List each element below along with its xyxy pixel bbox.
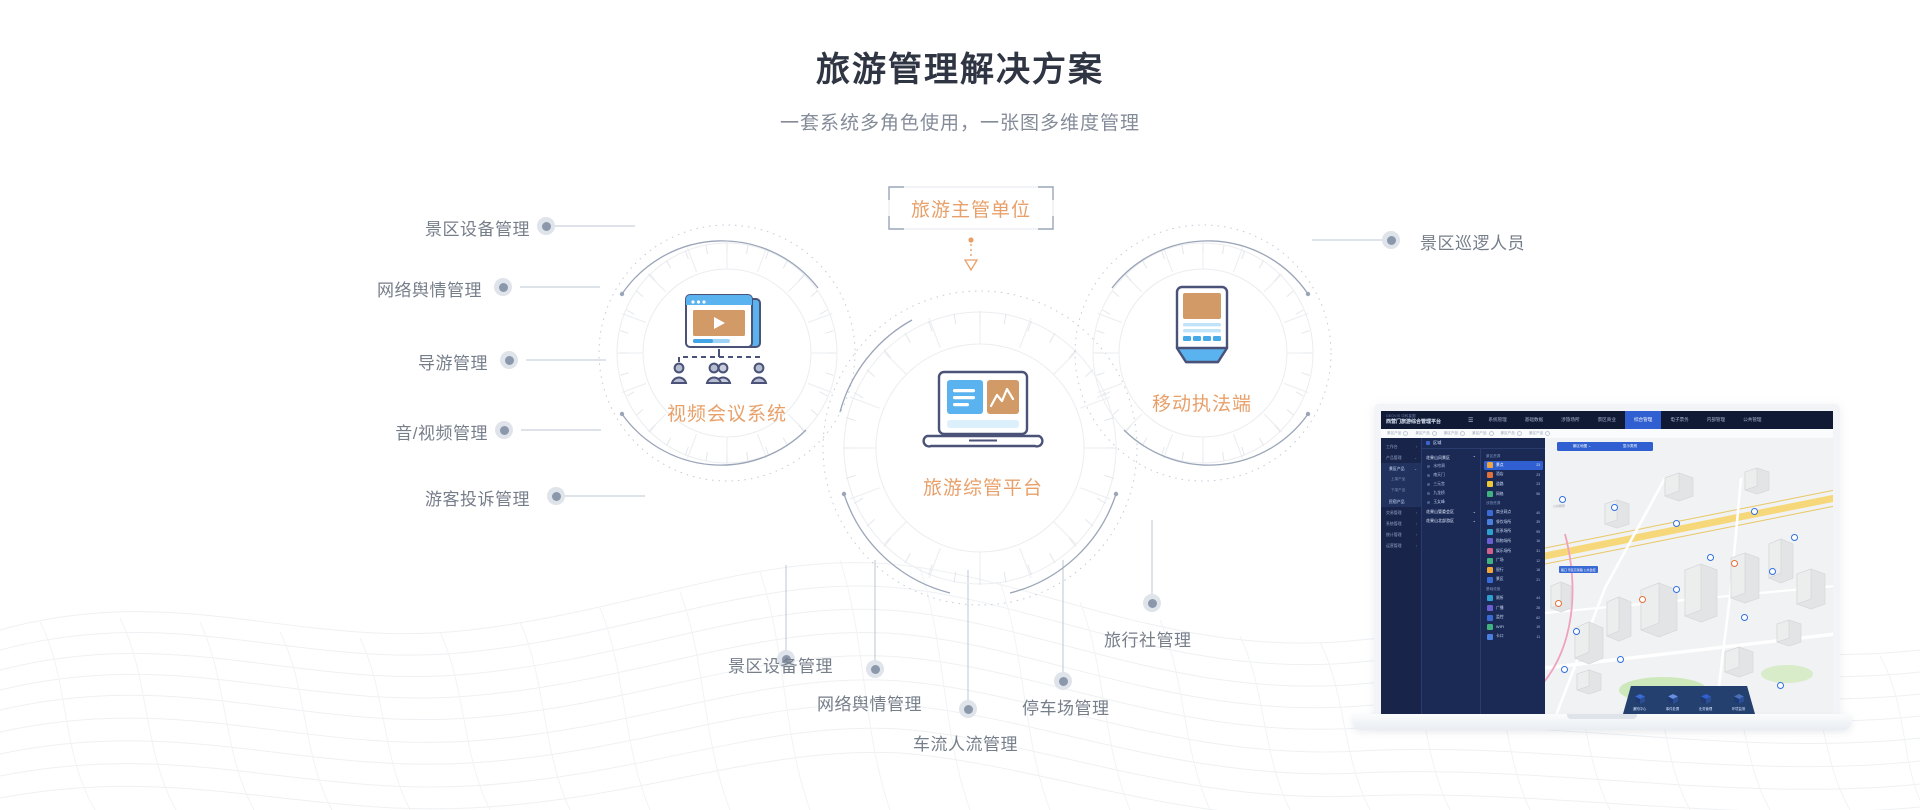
map-poi-alt[interactable] bbox=[1731, 560, 1738, 567]
chip-circle-icon bbox=[1489, 431, 1494, 436]
layer-label: 监控 bbox=[1496, 615, 1504, 620]
sidebar-item[interactable]: 统计管理› bbox=[1381, 529, 1421, 540]
layer-label: 景区 bbox=[1496, 577, 1504, 582]
node-caption-tourism-platform: 旅游综管平台 bbox=[868, 473, 1098, 500]
region-tree-label: 花果山风景区 bbox=[1426, 455, 1450, 461]
layer-label: 商业网点 bbox=[1496, 510, 1511, 515]
layer-count: 16 bbox=[1536, 539, 1543, 543]
region-tree-group[interactable]: 花果山风景区⌃ bbox=[1422, 453, 1480, 462]
layer-label: 购物场所 bbox=[1496, 539, 1511, 544]
layer-type-icon bbox=[1487, 462, 1493, 468]
dashboard-top-menu: 系统管理基础数据涉旅场所景区商业综合管理电子票务内部管理公共管理 bbox=[1479, 411, 1833, 429]
layer-group-title: 涉旅资源 bbox=[1481, 499, 1546, 507]
region-tree-item[interactable]: 水帘洞 bbox=[1422, 462, 1480, 471]
layer-type-icon bbox=[1487, 605, 1493, 611]
bullet-icon bbox=[1427, 474, 1430, 477]
layer-item[interactable]: 景点23 bbox=[1484, 461, 1543, 470]
layer-item[interactable]: 道路23 bbox=[1484, 480, 1543, 489]
authority-badge: 旅游主管单位 bbox=[888, 186, 1054, 230]
sidebar-item-label: 系统管理 bbox=[1386, 521, 1402, 527]
dot-bottom-2 bbox=[866, 660, 884, 678]
layer-count: 23 bbox=[1536, 482, 1543, 486]
chip-circle-icon bbox=[1545, 431, 1550, 436]
map-poi[interactable] bbox=[1611, 504, 1618, 511]
dashboard-region-panel: 区域 花果山风景区⌃水帘洞南天门三元宫九龙桥玉女峰花果山管委会区⌄花果山北部游区… bbox=[1421, 438, 1546, 717]
label-left-1: 景区设备管理 bbox=[400, 215, 530, 240]
chip-circle-icon bbox=[1432, 431, 1437, 436]
region-tree-group[interactable]: 花果山北部游区⌄ bbox=[1422, 516, 1480, 525]
dashboard-topbar: GEOVIS 中科星图 西营门旅游综合管理平台 ☰ 系统管理基础数据涉旅场所景区… bbox=[1381, 411, 1833, 429]
dot-bottom-5 bbox=[1143, 594, 1161, 612]
region-tree-item[interactable]: 九龙桥 bbox=[1422, 489, 1480, 498]
layer-label: 医系场所 bbox=[1496, 529, 1511, 534]
map-poi[interactable] bbox=[1561, 666, 1568, 673]
bullet-icon bbox=[1427, 465, 1430, 468]
node-mobile-enforcement[interactable]: 移动执法端 bbox=[1108, 282, 1296, 416]
chip-circle-icon bbox=[1517, 431, 1522, 436]
sidebar-item-label: 下架产品 bbox=[1391, 488, 1405, 493]
map-poi-alt[interactable] bbox=[1639, 596, 1646, 603]
layer-type-icon bbox=[1487, 548, 1493, 554]
region-tree-label: 花果山北部游区 bbox=[1426, 518, 1454, 524]
sidebar-item[interactable]: 民宿产品 bbox=[1381, 496, 1421, 507]
menu-toggle-icon[interactable]: ☰ bbox=[1462, 417, 1479, 424]
laptop-notch bbox=[1567, 714, 1637, 719]
dock-item-label: 业务管理 bbox=[1693, 706, 1719, 711]
layer-type-icon bbox=[1487, 558, 1493, 564]
bullet-icon bbox=[1427, 492, 1430, 495]
laptop-dashboard-icon bbox=[917, 368, 1049, 462]
dock-item-label: 事件处置 bbox=[1660, 706, 1686, 711]
page-title: 旅游管理解决方案 bbox=[0, 42, 1920, 91]
region-tree-label: 三元宫 bbox=[1433, 482, 1444, 487]
bullet-icon bbox=[1427, 501, 1430, 504]
label-right-1: 景区巡逻人员 bbox=[1420, 229, 1525, 254]
map-poi[interactable] bbox=[1777, 682, 1784, 689]
region-tree-item[interactable]: 三元宫 bbox=[1422, 480, 1480, 489]
layer-item[interactable]: 餐饮场所39 bbox=[1484, 518, 1543, 527]
layer-label: 厕所 bbox=[1496, 596, 1504, 601]
laptop-mockup: GEOVIS 中科星图 西营门旅游综合管理平台 ☰ 系统管理基础数据涉旅场所景区… bbox=[1352, 404, 1852, 774]
map-poi-alt[interactable] bbox=[1555, 600, 1562, 607]
sidebar-item[interactable]: 交易管理› bbox=[1381, 507, 1421, 518]
map-poi[interactable] bbox=[1751, 508, 1758, 515]
dock-item[interactable]: 事件处置 bbox=[1660, 693, 1686, 712]
map-poi[interactable] bbox=[1707, 554, 1714, 561]
map-poi[interactable] bbox=[1741, 614, 1748, 621]
layer-label: 餐饮场所 bbox=[1496, 520, 1511, 525]
chevron-icon: ⌄ bbox=[1414, 456, 1421, 460]
sidebar-item-label: 工作台 bbox=[1386, 444, 1398, 450]
layer-count: 28 bbox=[1536, 606, 1543, 610]
layer-type-icon bbox=[1487, 634, 1493, 640]
dashboard-sidebar: 工作台›产品管理⌄景区产品⌄上架产品下架产品民宿产品交易管理›系统管理›统计管理… bbox=[1381, 438, 1421, 717]
dashboard-filter-chip[interactable]: 景区产品 bbox=[1444, 431, 1465, 436]
layer-count: 23 bbox=[1536, 473, 1543, 477]
layer-type-icon bbox=[1487, 624, 1493, 630]
layer-type-icon bbox=[1487, 538, 1493, 544]
layer-item[interactable]: 医系场所95 bbox=[1484, 528, 1543, 537]
sidebar-item[interactable]: 产品管理⌄ bbox=[1381, 452, 1421, 463]
layer-type-icon bbox=[1487, 577, 1493, 583]
dock-item[interactable]: 业务管理 bbox=[1693, 693, 1719, 712]
chip-label: 景区产品 bbox=[1529, 431, 1543, 436]
layer-item[interactable]: WIFI19 bbox=[1484, 623, 1543, 632]
cube-blue-icon bbox=[1634, 693, 1646, 705]
node-caption-mobile-enforcement: 移动执法端 bbox=[1108, 389, 1296, 416]
map-callout-text: 路口 景区高架路 公共监控 bbox=[1561, 568, 1596, 572]
chevron-icon: ⌃ bbox=[1473, 455, 1480, 460]
dashboard-app: GEOVIS 中科星图 西营门旅游综合管理平台 ☰ 系统管理基础数据涉旅场所景区… bbox=[1381, 411, 1833, 717]
map-dock: 通知中心事件处置业务管理环境监测 bbox=[1623, 686, 1755, 714]
layer-count: 12 bbox=[1536, 559, 1543, 563]
dock-item[interactable]: 环境监测 bbox=[1726, 693, 1752, 712]
layer-type-icon bbox=[1487, 472, 1493, 478]
label-bottom-1: 景区设备管理 bbox=[728, 652, 833, 677]
layer-count: 21 bbox=[1536, 578, 1543, 582]
chip-label: 景区产品 bbox=[1444, 431, 1458, 436]
map-canvas bbox=[1545, 438, 1833, 717]
region-tree: 花果山风景区⌃水帘洞南天门三元宫九龙桥玉女峰花果山管委会区⌄花果山北部游区⌄ bbox=[1422, 449, 1481, 717]
layer-count: 11 bbox=[1536, 635, 1543, 639]
mobile-device-icon bbox=[1166, 282, 1238, 378]
layer-group-title: 景区资源 bbox=[1481, 452, 1546, 460]
dock-item-label: 环境监测 bbox=[1726, 706, 1752, 711]
layer-item[interactable]: 银行18 bbox=[1484, 566, 1543, 575]
layer-item[interactable]: 景区21 bbox=[1484, 576, 1543, 585]
layer-item[interactable]: 购物场所16 bbox=[1484, 537, 1543, 546]
chip-label: 景区产品 bbox=[1501, 431, 1515, 436]
map-callout: 路口 景区高架路 公共监控 bbox=[1559, 566, 1598, 573]
label-left-4: 音/视频管理 bbox=[360, 419, 488, 444]
map-toolbar[interactable]: 景区地图 ⌄ 显示类别 bbox=[1557, 442, 1653, 451]
dashboard-filter-chip[interactable]: 景区产品 bbox=[1529, 431, 1550, 436]
dashboard-brand: GEOVIS 中科星图 西营门旅游综合管理平台 bbox=[1381, 414, 1462, 427]
node-caption-video-conference: 视频会议系统 bbox=[627, 399, 827, 426]
label-left-2: 网络舆情管理 bbox=[352, 276, 482, 301]
layer-label: 道路 bbox=[1496, 482, 1504, 487]
map-poi[interactable] bbox=[1769, 568, 1776, 575]
chip-label: 景区产品 bbox=[1415, 431, 1429, 436]
map-category-button[interactable]: 显示类别 bbox=[1623, 444, 1637, 449]
region-tree-item[interactable]: 玉女峰 bbox=[1422, 498, 1480, 507]
layer-label: 景点 bbox=[1496, 463, 1504, 468]
dashboard-menu-item[interactable]: 景区商业 bbox=[1589, 411, 1625, 429]
dashboard-menu-item[interactable]: 内部管理 bbox=[1698, 411, 1734, 429]
region-tree-label: 花果山管委会区 bbox=[1426, 509, 1454, 515]
sidebar-item-label: 产品管理 bbox=[1386, 455, 1402, 461]
sidebar-item-label: 景区产品 bbox=[1389, 466, 1405, 472]
layer-type-icon bbox=[1487, 567, 1493, 573]
chip-label: 景区产品 bbox=[1387, 431, 1401, 436]
sidebar-item[interactable]: 景区产品⌄ bbox=[1381, 463, 1421, 474]
node-tourism-platform[interactable]: 旅游综管平台 bbox=[868, 368, 1098, 500]
label-bottom-3: 车流人流管理 bbox=[913, 730, 1018, 755]
layer-count: 62 bbox=[1536, 616, 1543, 620]
sidebar-item[interactable]: 下架产品 bbox=[1381, 485, 1421, 496]
label-bottom-4: 停车场管理 bbox=[1022, 694, 1110, 719]
region-tree-label: 九龙桥 bbox=[1433, 491, 1444, 496]
layer-item[interactable]: 卡口11 bbox=[1484, 633, 1543, 642]
sidebar-item-label: 上架产品 bbox=[1391, 477, 1405, 482]
layer-item[interactable]: 厕所44 bbox=[1484, 594, 1543, 603]
layer-list: 景区资源景点23酒店23道路23网格56涉旅资源商业网点40餐饮场所39医系场所… bbox=[1481, 449, 1546, 717]
dock-item-label: 通知中心 bbox=[1627, 706, 1653, 711]
book-icon bbox=[1700, 693, 1712, 705]
layer-type-icon bbox=[1487, 519, 1493, 525]
sidebar-item[interactable]: 系统管理› bbox=[1381, 518, 1421, 529]
label-bottom-5: 旅行社管理 bbox=[1104, 626, 1192, 651]
video-window-icon bbox=[665, 292, 789, 388]
dot-right-1 bbox=[1382, 231, 1400, 249]
region-tree-label: 水帘洞 bbox=[1433, 464, 1444, 469]
dashboard-filter-chip[interactable]: 景区产品 bbox=[1472, 431, 1493, 436]
region-panel-header: 区域 bbox=[1422, 438, 1546, 449]
layer-item[interactable]: 酒店23 bbox=[1484, 471, 1543, 480]
layer-label: 娱乐场所 bbox=[1496, 549, 1511, 554]
layer-label: 网格 bbox=[1496, 492, 1504, 497]
layer-label: 卡口 bbox=[1496, 634, 1504, 639]
layer-type-icon bbox=[1487, 595, 1493, 601]
layer-type-icon bbox=[1487, 529, 1493, 535]
chevron-icon: ⌄ bbox=[1414, 467, 1421, 471]
layer-item[interactable]: 监控62 bbox=[1484, 613, 1543, 622]
layer-type-icon bbox=[1487, 510, 1493, 516]
solution-diagram-page: 旅游管理解决方案 一套系统多角色使用，一张图多维度管理 景区设备管理 网络舆情管… bbox=[0, 0, 1920, 810]
layer-label: 银行 bbox=[1496, 568, 1504, 573]
sidebar-item-label: 交易管理 bbox=[1386, 510, 1402, 516]
dashboard-menu-item[interactable]: 涉旅场所 bbox=[1552, 411, 1588, 429]
node-video-conference[interactable]: 视频会议系统 bbox=[627, 292, 827, 426]
dashboard-menu-item[interactable]: 综合管理 bbox=[1625, 411, 1661, 429]
region-panel-title: 区域 bbox=[1433, 440, 1441, 446]
layer-count: 31 bbox=[1536, 549, 1543, 553]
map-poi[interactable] bbox=[1673, 586, 1680, 593]
dashboard-menu-item[interactable]: 系统管理 bbox=[1479, 411, 1515, 429]
layer-label: 广场 bbox=[1496, 558, 1504, 563]
grid-icon bbox=[1426, 441, 1430, 445]
funnel-icon bbox=[1667, 693, 1679, 705]
dot-bottom-3 bbox=[959, 700, 977, 718]
chip-label: 景区产品 bbox=[1472, 431, 1486, 436]
layer-label: 酒店 bbox=[1496, 472, 1504, 477]
dock-item[interactable]: 通知中心 bbox=[1627, 693, 1653, 712]
map-poi[interactable] bbox=[1673, 520, 1680, 527]
sidebar-item[interactable]: 上架产品 bbox=[1381, 474, 1421, 485]
dot-left-1 bbox=[537, 217, 555, 235]
layer-type-icon bbox=[1487, 615, 1493, 621]
dot-left-3 bbox=[500, 351, 518, 369]
gauge-icon bbox=[1733, 693, 1745, 705]
layer-type-icon bbox=[1487, 481, 1493, 487]
chip-circle-icon bbox=[1460, 431, 1465, 436]
dot-bottom-4 bbox=[1054, 672, 1072, 690]
dot-left-5 bbox=[547, 487, 565, 505]
layer-item[interactable]: 网格56 bbox=[1484, 490, 1543, 499]
layer-item[interactable]: 广播28 bbox=[1484, 604, 1543, 613]
layer-count: 44 bbox=[1536, 596, 1543, 600]
authority-label: 旅游主管单位 bbox=[888, 186, 1054, 230]
sidebar-item-label: 民宿产品 bbox=[1389, 499, 1405, 505]
layer-count: 95 bbox=[1536, 530, 1543, 534]
map-layer-select[interactable]: 景区地图 ⌄ bbox=[1573, 444, 1591, 449]
sidebar-item[interactable]: 工作台› bbox=[1381, 441, 1421, 452]
map-poi-label: 公共厕所 bbox=[1553, 504, 1565, 508]
layer-count: 40 bbox=[1536, 511, 1543, 515]
dashboard-menu-item[interactable]: 公共管理 bbox=[1734, 411, 1770, 429]
bullet-icon bbox=[1427, 483, 1430, 486]
dot-left-2 bbox=[494, 278, 512, 296]
map-poi[interactable] bbox=[1791, 534, 1798, 541]
page-subtitle: 一套系统多角色使用，一张图多维度管理 bbox=[0, 108, 1920, 135]
map-poi[interactable] bbox=[1617, 656, 1624, 663]
map-poi[interactable] bbox=[1559, 496, 1566, 503]
region-tree-group[interactable]: 花果山管委会区⌄ bbox=[1422, 507, 1480, 516]
brand-line-2: 西营门旅游综合管理平台 bbox=[1386, 419, 1462, 427]
dashboard-map[interactable]: 景区地图 ⌄ 显示类别 路口 景区高架路 公共监控 公共厕所 bbox=[1545, 438, 1833, 717]
layer-item[interactable]: 娱乐场所31 bbox=[1484, 547, 1543, 556]
dot-left-4 bbox=[495, 421, 513, 439]
chevron-icon: ⌄ bbox=[1473, 518, 1480, 523]
map-poi[interactable] bbox=[1573, 628, 1580, 635]
region-tree-item[interactable]: 南天门 bbox=[1422, 471, 1480, 480]
layer-count: 23 bbox=[1536, 463, 1543, 467]
dashboard-menu-item[interactable]: 基础数据 bbox=[1516, 411, 1552, 429]
chip-circle-icon bbox=[1403, 431, 1408, 436]
layer-label: 广播 bbox=[1496, 606, 1504, 611]
label-left-3: 导游管理 bbox=[390, 349, 488, 374]
chevron-icon: ⌄ bbox=[1473, 509, 1480, 514]
layer-count: 19 bbox=[1536, 625, 1543, 629]
layer-count: 56 bbox=[1536, 492, 1543, 496]
laptop-screen: GEOVIS 中科星图 西营门旅游综合管理平台 ☰ 系统管理基础数据涉旅场所景区… bbox=[1374, 404, 1840, 724]
sidebar-item-label: 统计管理 bbox=[1386, 532, 1402, 538]
layer-group-title: 基础设施 bbox=[1481, 585, 1546, 593]
label-bottom-2: 网络舆情管理 bbox=[817, 690, 922, 715]
layer-count: 39 bbox=[1536, 520, 1543, 524]
layer-label: WIFI bbox=[1496, 625, 1504, 629]
dashboard-menu-item[interactable]: 电子票务 bbox=[1661, 411, 1697, 429]
dashboard-filter-chip[interactable]: 景区产品 bbox=[1415, 431, 1436, 436]
layer-item[interactable]: 商业网点40 bbox=[1484, 508, 1543, 517]
authority-down-arrow-icon bbox=[955, 236, 987, 274]
sidebar-item[interactable]: 运营管理› bbox=[1381, 540, 1421, 551]
sidebar-item-label: 运营管理 bbox=[1386, 543, 1402, 549]
layer-type-icon bbox=[1487, 491, 1493, 497]
region-tree-label: 南天门 bbox=[1433, 473, 1444, 478]
layer-item[interactable]: 广场12 bbox=[1484, 556, 1543, 565]
layer-count: 18 bbox=[1536, 568, 1543, 572]
dashboard-filter-chip[interactable]: 景区产品 bbox=[1387, 431, 1408, 436]
dashboard-filter-chip[interactable]: 景区产品 bbox=[1501, 431, 1522, 436]
label-left-5: 游客投诉管理 bbox=[400, 485, 530, 510]
region-tree-label: 玉女峰 bbox=[1433, 500, 1444, 505]
